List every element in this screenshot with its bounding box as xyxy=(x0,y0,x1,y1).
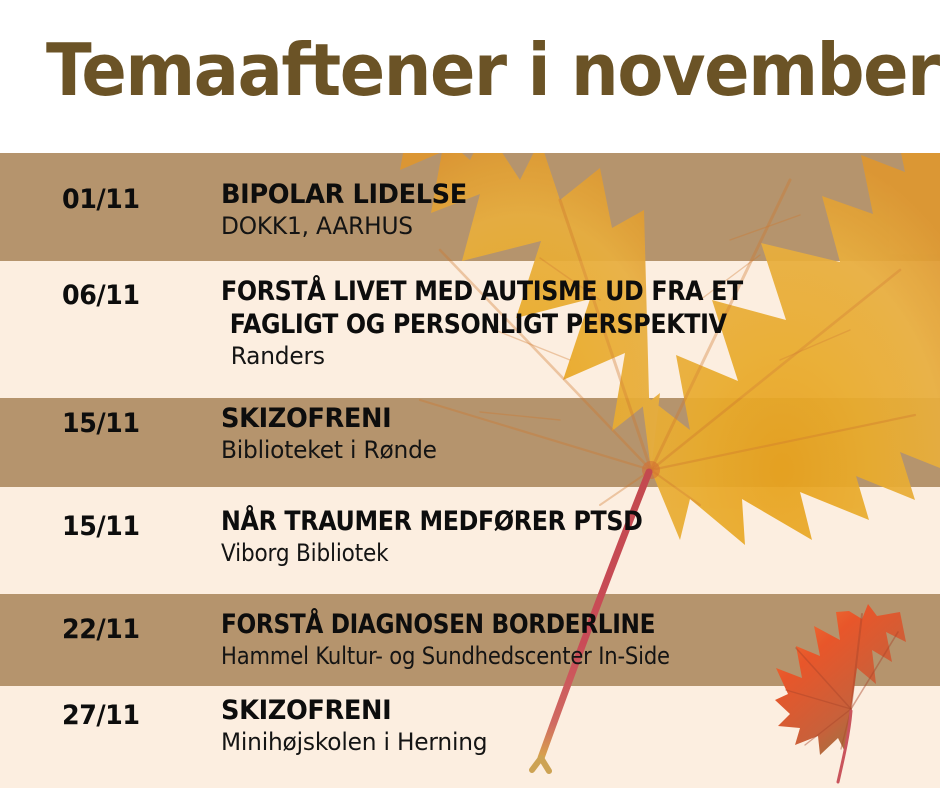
event-body: SKIZOFRENIBiblioteket i Rønde xyxy=(221,402,940,465)
event-title-line: SKIZOFRENI xyxy=(221,695,391,726)
event-body: SKIZOFRENIMinihøjskolen i Herning xyxy=(221,694,940,757)
event-venue: Biblioteket i Rønde xyxy=(221,435,918,465)
event-title-line: NÅR TRAUMER MEDFØRER PTSD xyxy=(221,506,643,537)
event-date: 22/11 xyxy=(62,614,140,645)
event-body: FORSTÅ DIAGNOSEN BORDERLINEHammel Kultur… xyxy=(221,608,940,671)
event-venue: Randers xyxy=(221,341,918,371)
event-date: 15/11 xyxy=(62,408,140,439)
poster-header: Temaaftener i november xyxy=(0,0,940,153)
page-title: Temaaftener i november xyxy=(46,27,939,113)
event-date: 27/11 xyxy=(62,700,140,731)
event-title: BIPOLAR LIDELSE xyxy=(221,178,904,211)
event-title-line: FORSTÅ LIVET MED AUTISME UD FRA ET xyxy=(221,276,743,307)
event-venue: Viborg Bibliotek xyxy=(221,538,868,568)
event-title: FORSTÅ LIVET MED AUTISME UD FRA ETFAGLIG… xyxy=(221,275,854,341)
event-title-line: BIPOLAR LIDELSE xyxy=(221,179,467,210)
event-title-line: FORSTÅ DIAGNOSEN BORDERLINE xyxy=(221,609,655,640)
event-title-line: FAGLIGT OG PERSONLIGT PERSPEKTIV xyxy=(221,308,854,341)
event-venue: Hammel Kultur- og Sundhedscenter In-Side xyxy=(221,641,854,671)
event-date: 15/11 xyxy=(62,511,140,542)
event-title: FORSTÅ DIAGNOSEN BORDERLINE xyxy=(221,608,839,641)
event-title-line: SKIZOFRENI xyxy=(221,403,391,434)
event-venue: Minihøjskolen i Herning xyxy=(221,727,918,757)
event-title: SKIZOFRENI xyxy=(221,694,904,727)
event-title: SKIZOFRENI xyxy=(221,402,904,435)
event-title: NÅR TRAUMER MEDFØRER PTSD xyxy=(221,505,854,538)
event-venue: DOKK1, AARHUS xyxy=(221,211,918,241)
poster-canvas: 01/11BIPOLAR LIDELSEDOKK1, AARHUS06/11FO… xyxy=(0,0,940,788)
event-body: NÅR TRAUMER MEDFØRER PTSDViborg Bibliote… xyxy=(221,505,940,568)
event-body: BIPOLAR LIDELSEDOKK1, AARHUS xyxy=(221,178,940,241)
event-body: FORSTÅ LIVET MED AUTISME UD FRA ETFAGLIG… xyxy=(221,275,940,371)
event-date: 01/11 xyxy=(62,184,140,215)
event-date: 06/11 xyxy=(62,280,140,311)
